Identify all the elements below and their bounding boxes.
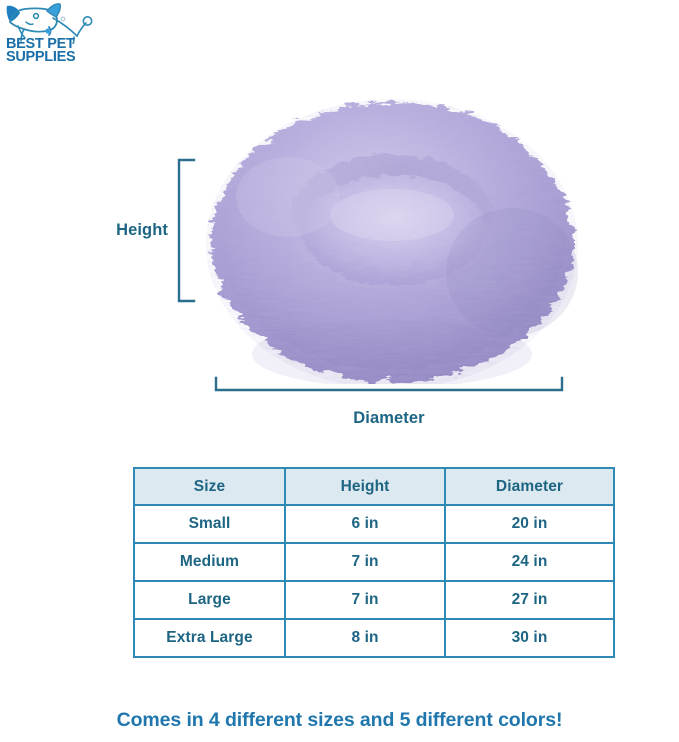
footer-tagline: Comes in 4 different sizes and 5 differe… [0,709,679,732]
cell-height: 6 in [285,505,445,543]
cell-height: 7 in [285,543,445,581]
column-header-size: Size [134,468,285,505]
diameter-label: Diameter [214,409,564,428]
cell-diameter: 30 in [445,619,614,657]
cell-diameter: 24 in [445,543,614,581]
column-header-diameter: Diameter [445,468,614,505]
height-label: Height [96,221,168,240]
product-image-pet-bed [196,72,588,384]
cell-size: Medium [134,543,285,581]
cell-height: 8 in [285,619,445,657]
cell-size: Extra Large [134,619,285,657]
table-header-row: Size Height Diameter [134,468,614,505]
cell-size: Small [134,505,285,543]
table-row: Small 6 in 20 in [134,505,614,543]
table-row: Extra Large 8 in 30 in [134,619,614,657]
table-row: Medium 7 in 24 in [134,543,614,581]
cell-diameter: 27 in [445,581,614,619]
height-bracket [172,158,196,303]
diameter-bracket [214,376,564,396]
table-row: Large 7 in 27 in [134,581,614,619]
cell-size: Large [134,581,285,619]
cell-diameter: 20 in [445,505,614,543]
cell-height: 7 in [285,581,445,619]
column-header-height: Height [285,468,445,505]
brand-wordmark: BEST PET SUPPLIES [6,38,94,64]
brand-logo: BEST PET SUPPLIES [4,2,96,74]
size-chart-table: Size Height Diameter Small 6 in 20 in Me… [133,467,615,658]
brand-wordmark-line2: SUPPLIES [6,51,94,64]
